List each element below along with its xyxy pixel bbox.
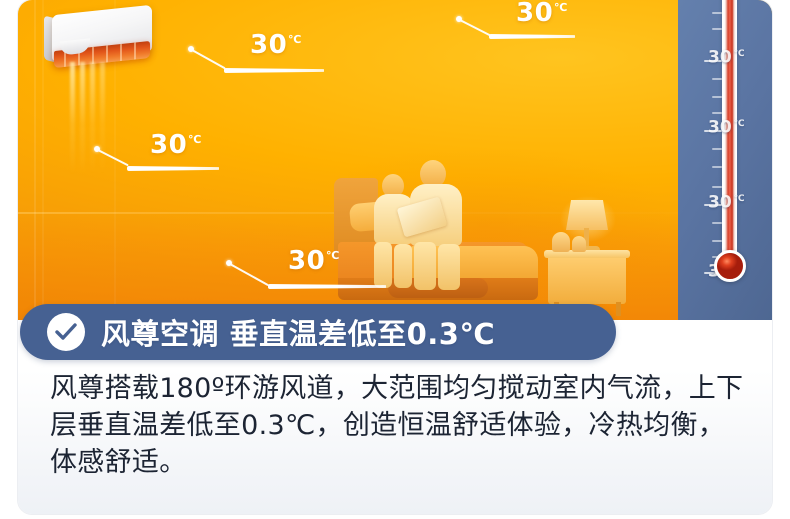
callout-leader-line — [460, 19, 491, 36]
callout-leader-line — [98, 149, 129, 166]
callout-value: 30 — [288, 248, 325, 274]
airflow-stream — [80, 62, 85, 174]
feature-banner-text: 风尊空调 垂直温差低至0.3℃ — [101, 311, 495, 353]
callout-unit: ℃ — [188, 134, 201, 145]
callout-value: 30 — [516, 0, 553, 26]
callout-value: 30 — [250, 32, 287, 58]
callout-leader-line — [230, 263, 269, 286]
body-paragraph: 风尊搭载180º环游风道，大范围均匀搅动室内气流，上下层垂直温差低至0.3℃，创… — [50, 370, 750, 481]
temperature-callout: 30 ℃ — [456, 0, 636, 44]
wall-light-streak — [34, 0, 36, 320]
temperature-callout: 30 ℃ — [188, 28, 368, 74]
thermometer-bulb — [714, 250, 746, 282]
callout-bar — [224, 68, 324, 73]
thermometer-label: 30℃ — [708, 191, 745, 212]
decor-object — [572, 236, 586, 252]
callout-unit: ℃ — [326, 250, 339, 261]
thermometer-panel: 30℃ 30℃ 30℃ 30℃ — [678, 0, 772, 320]
thermometer-label: 30℃ — [708, 116, 745, 137]
callout-unit: ℃ — [288, 34, 301, 45]
airflow-stream — [70, 62, 75, 174]
temperature-callout: 30 ℃ — [94, 128, 274, 174]
hero-image: 30 ℃ 30 ℃ 30 ℃ 30 ℃ — [18, 0, 772, 320]
callout-bar — [489, 34, 575, 39]
decor-object — [552, 232, 570, 252]
temperature-callout: 30 ℃ — [226, 242, 426, 288]
lamp-shade-icon — [566, 200, 608, 230]
callout-leader-line — [192, 49, 226, 69]
callout-value: 30 — [150, 132, 187, 158]
air-conditioner-unit — [44, 10, 152, 70]
callout-bar — [127, 166, 219, 171]
callout-unit: ℃ — [554, 2, 567, 13]
nightstand-leg — [616, 302, 621, 316]
bedroom-scene — [348, 150, 688, 320]
nightstand — [548, 254, 626, 304]
check-circle-icon — [47, 313, 85, 351]
promo-card: 30 ℃ 30 ℃ 30 ℃ 30 ℃ — [18, 0, 772, 514]
thermometer-label: 30℃ — [708, 46, 745, 67]
feature-banner: 风尊空调 垂直温差低至0.3℃ — [20, 304, 616, 360]
